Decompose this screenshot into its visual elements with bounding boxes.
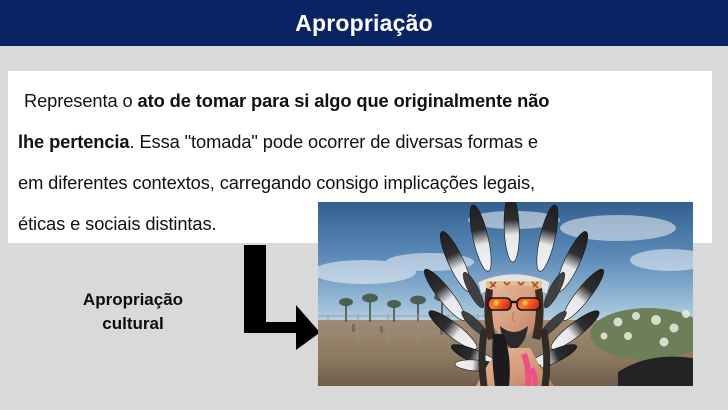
body-text-line: Representa o ato de tomar para si algo q… (18, 80, 706, 121)
elbow-arrow-shape (244, 245, 320, 350)
headdress-photo-graphic (318, 202, 693, 386)
body-text-segment: em diferentes contextos, carregando cons… (18, 172, 535, 193)
body-text-segment-bold: lhe pertencia (18, 131, 129, 152)
caption-apropriacao-cultural: Apropriação cultural (42, 288, 224, 336)
slide-title: Apropriação (295, 12, 433, 35)
body-text-segment: éticas e sociais distintas. (18, 213, 216, 234)
elbow-arrow-icon (240, 243, 322, 351)
slide-canvas: Apropriação Representa o ato de tomar pa… (0, 0, 728, 410)
body-text-line: lhe pertencia. Essa "tomada" pode ocorre… (18, 121, 706, 162)
body-text-line: em diferentes contextos, carregando cons… (18, 162, 706, 203)
body-text-segment-bold: ato de tomar para si algo que originalme… (138, 90, 550, 111)
caption-line: Apropriação (42, 288, 224, 312)
body-text-segment: . Essa "tomada" pode ocorrer de diversas… (129, 131, 537, 152)
headdress-photo (318, 202, 693, 386)
body-text-segment: Representa o (24, 90, 138, 111)
caption-line: cultural (42, 312, 224, 336)
slide-title-bar: Apropriação (0, 0, 728, 46)
